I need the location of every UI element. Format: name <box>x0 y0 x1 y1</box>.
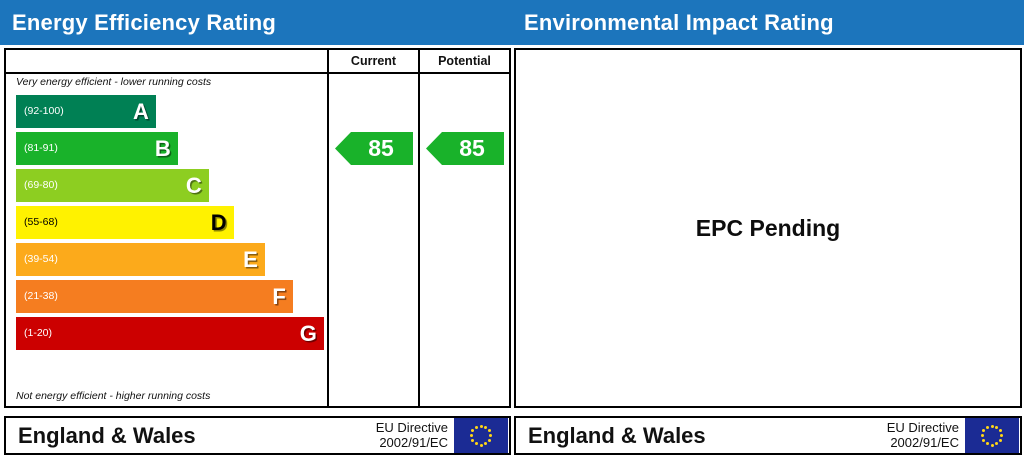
eu-flag-star <box>982 429 985 432</box>
energy-efficiency-panel: Energy Efficiency Rating Current Potenti… <box>0 0 512 457</box>
band-range-d: (55-68) <box>24 217 58 228</box>
eu-flag-star <box>999 439 1002 442</box>
eu-flag-icon <box>454 418 508 453</box>
eu-flag-star <box>991 425 994 428</box>
rating-table-header-blank <box>6 50 329 72</box>
hint-not-efficient-text: Not energy efficient - higher running co… <box>16 390 210 402</box>
band-bar-g: (1-20)G <box>16 317 324 350</box>
directive-line2-left: 2002/91/EC <box>376 436 448 451</box>
footer-directive-left: EU Directive 2002/91/EC <box>376 421 454 450</box>
hint-very-efficient: Very energy efficient - lower running co… <box>6 74 327 91</box>
band-bar-d: (55-68)D <box>16 206 234 239</box>
band-range-f: (21-38) <box>24 291 58 302</box>
band-letter-f: F <box>272 286 285 308</box>
band-letter-c: C <box>186 175 202 197</box>
rating-table-main-row: Very energy efficient - lower running co… <box>6 74 509 406</box>
environmental-impact-banner: Environmental Impact Rating <box>512 0 1024 45</box>
hint-not-efficient: Not energy efficient - higher running co… <box>6 388 210 405</box>
band-bar-e: (39-54)E <box>16 243 265 276</box>
band-bar-b: (81-91)B <box>16 132 178 165</box>
environmental-impact-body: EPC Pending England & Wales EU Directive… <box>512 45 1024 457</box>
left-footer: England & Wales EU Directive 2002/91/EC <box>4 416 511 455</box>
current-rating-column: 85 <box>329 74 420 406</box>
band-range-e: (39-54) <box>24 254 58 265</box>
directive-line1-right: EU Directive <box>887 421 959 436</box>
efficiency-bands-column: Very energy efficient - lower running co… <box>6 74 329 406</box>
directive-line2-right: 2002/91/EC <box>887 436 959 451</box>
band-range-c: (69-80) <box>24 180 58 191</box>
eu-flag-star <box>475 426 478 429</box>
band-letter-b: B <box>155 138 171 160</box>
column-header-potential: Potential <box>420 50 509 72</box>
eu-flag-star <box>480 425 483 428</box>
eu-flag-star <box>480 444 483 447</box>
energy-efficiency-body: Current Potential Very energy efficient … <box>0 45 512 457</box>
environmental-impact-panel: Environmental Impact Rating EPC Pending … <box>512 0 1024 457</box>
directive-line1-left: EU Directive <box>376 421 448 436</box>
eu-flag-icon <box>965 418 1019 453</box>
band-letter-a: A <box>133 101 149 123</box>
eu-flag-star <box>995 426 998 429</box>
epc-certificate-graphic: Energy Efficiency Rating Current Potenti… <box>0 0 1024 457</box>
band-bar-a: (92-100)A <box>16 95 156 128</box>
right-footer: England & Wales EU Directive 2002/91/EC <box>514 416 1022 455</box>
rating-table-header-row: Current Potential <box>6 50 509 74</box>
eu-flag-star <box>489 434 492 437</box>
hint-very-efficient-text: Very energy efficient - lower running co… <box>16 76 211 88</box>
eu-flag-star <box>470 434 473 437</box>
potential-rating-column: 85 <box>420 74 509 406</box>
band-letter-d: D <box>211 212 227 234</box>
footer-region-right: England & Wales <box>516 423 887 449</box>
eu-flag-star <box>471 429 474 432</box>
eu-flag-star <box>484 442 487 445</box>
energy-rating-table: Current Potential Very energy efficient … <box>4 48 511 408</box>
eu-flag-star <box>475 442 478 445</box>
epc-pending-message: EPC Pending <box>696 215 840 242</box>
footer-directive-right: EU Directive 2002/91/EC <box>887 421 965 450</box>
eu-flag-star <box>488 429 491 432</box>
eu-flag-star <box>986 442 989 445</box>
eu-flag-star <box>484 426 487 429</box>
energy-efficiency-banner: Energy Efficiency Rating <box>0 0 512 45</box>
eu-flag-star <box>982 439 985 442</box>
panel-divider <box>511 45 513 457</box>
eu-flag-star <box>488 439 491 442</box>
epc-pending-box: EPC Pending <box>514 48 1022 408</box>
eu-flag-star <box>1000 434 1003 437</box>
band-range-a: (92-100) <box>24 106 64 117</box>
column-header-current: Current <box>329 50 420 72</box>
eu-flag-star <box>986 426 989 429</box>
band-bar-c: (69-80)C <box>16 169 209 202</box>
current-rating-arrow: 85 <box>335 132 413 165</box>
band-letter-e: E <box>243 249 258 271</box>
eu-flag-star <box>981 434 984 437</box>
eu-flag-star <box>999 429 1002 432</box>
eu-flag-star <box>471 439 474 442</box>
footer-region-left: England & Wales <box>6 423 376 449</box>
band-bars-group: (92-100)A(81-91)B(69-80)C(55-68)D(39-54)… <box>16 95 327 354</box>
band-letter-g: G <box>300 323 317 345</box>
eu-flag-star <box>991 444 994 447</box>
potential-rating-arrow: 85 <box>426 132 504 165</box>
eu-flag-star <box>995 442 998 445</box>
band-range-b: (81-91) <box>24 143 58 154</box>
band-bar-f: (21-38)F <box>16 280 293 313</box>
band-range-g: (1-20) <box>24 328 52 339</box>
